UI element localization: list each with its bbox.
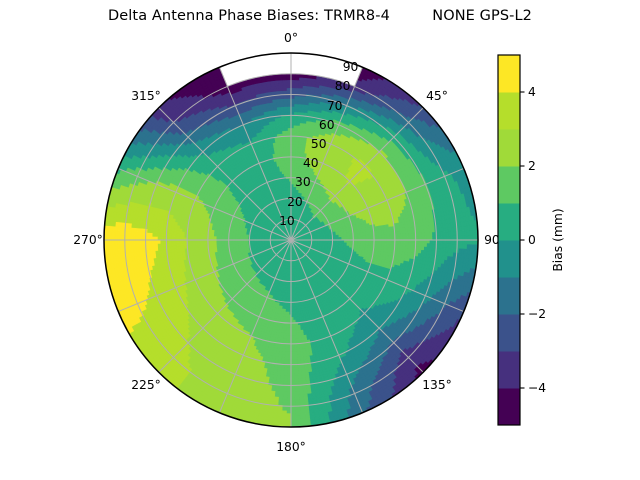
radial-tick-label-30: 30 xyxy=(295,175,311,189)
azimuth-tick-label-270: 270° xyxy=(73,233,103,247)
polar-grid-layer xyxy=(104,53,478,427)
azimuth-tick-label-180: 180° xyxy=(276,440,306,454)
colorbar-tick-label: −2 xyxy=(528,307,546,321)
azimuth-tick-label-225: 225° xyxy=(131,378,161,392)
colorbar-tick-label: −4 xyxy=(528,381,546,395)
radial-tick-label-90: 90 xyxy=(343,60,359,74)
radial-tick-label-70: 70 xyxy=(327,99,343,113)
azimuth-tick-label-90: 90° xyxy=(484,233,506,247)
colorbar-tick-label: 0 xyxy=(528,233,536,247)
radial-tick-label-40: 40 xyxy=(303,156,319,170)
azimuth-tick-label-315: 315° xyxy=(131,89,161,103)
radial-tick-label-20: 20 xyxy=(287,195,303,209)
figure-canvas: Delta Antenna Phase Biases: TRMR8-4 NONE… xyxy=(0,0,640,480)
radial-tick-label-50: 50 xyxy=(311,137,327,151)
radial-tick-label-60: 60 xyxy=(319,118,335,132)
azimuth-tick-label-135: 135° xyxy=(422,378,452,392)
colorbar-tick-label: 2 xyxy=(528,159,536,173)
colorbar-tick-label: 4 xyxy=(528,85,536,99)
colorbar-axis-label: Bias (mm) xyxy=(551,208,565,271)
radial-tick-label-80: 80 xyxy=(335,79,351,93)
radial-tick-label-10: 10 xyxy=(279,214,295,228)
azimuth-tick-label-45: 45° xyxy=(426,89,448,103)
azimuth-tick-label-0: 0° xyxy=(284,31,298,45)
